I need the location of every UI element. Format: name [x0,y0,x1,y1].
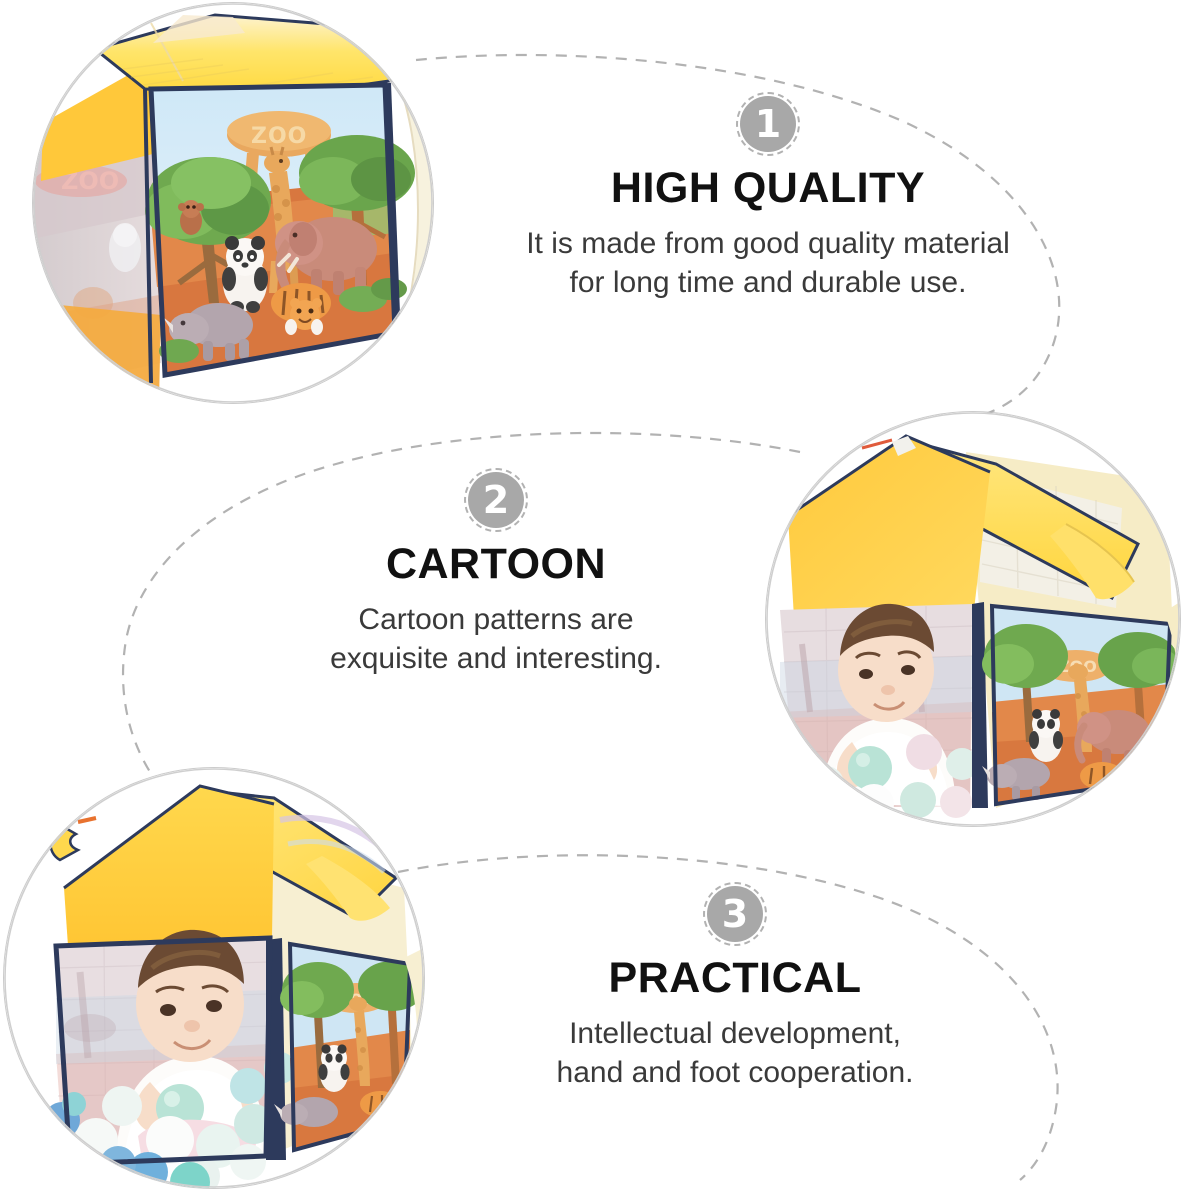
step-badge-2: 2 [464,468,528,532]
feature-title-1: HIGH QUALITY [468,166,1068,211]
svg-text:ZOO: ZOO [251,124,307,149]
feature-description-1: It is made from good quality material fo… [468,225,1068,302]
feature-description-2-line-2: exquisite and interesting. [330,642,662,675]
photo-tent-zoo-panel: ZOO [33,3,433,403]
baby-in-tent-illustration: ZOO [766,412,1180,826]
feature-description-1-line-2: for long time and durable use. [570,266,967,299]
step-badge-1: 1 [736,92,800,156]
feature-description-2: Cartoon patterns are exquisite and inter… [206,601,786,678]
feature-description-1-line-1: It is made from good quality material [526,227,1010,260]
feature-block-2: 2 CARTOON Cartoon patterns are exquisite… [206,468,786,678]
infographic-canvas: ZOO [0,0,1186,1191]
feature-block-1: 1 HIGH QUALITY It is made from good qual… [468,92,1068,302]
badge-number-1: 1 [740,96,796,152]
feature-description-3-line-2: hand and foot cooperation. [557,1056,914,1089]
baby-ball-pit-illustration: ZOO [4,768,424,1188]
feature-title-2: CARTOON [206,542,786,587]
feature-description-3: Intellectual development, hand and foot … [443,1015,1027,1092]
tent-zoo-illustration: ZOO [33,3,433,403]
feature-description-2-line-1: Cartoon patterns are [358,603,633,636]
step-badge-3: 3 [703,882,767,946]
feature-description-3-line-1: Intellectual development, [569,1017,901,1050]
badge-number-2: 2 [468,472,524,528]
photo-baby-in-tent: ZOO [766,412,1180,826]
badge-number-3: 3 [707,886,763,942]
feature-title-3: PRACTICAL [443,956,1027,1001]
photo-baby-ball-pit: ZOO [4,768,424,1188]
feature-block-3: 3 PRACTICAL Intellectual development, ha… [443,882,1027,1092]
